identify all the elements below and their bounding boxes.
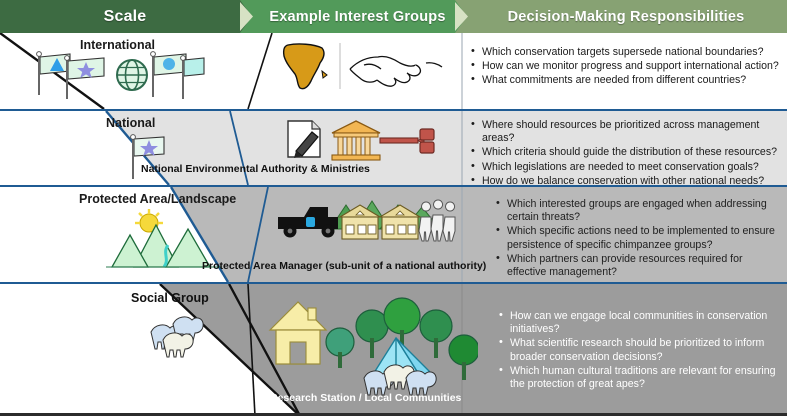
chevron-right-icon <box>240 0 262 33</box>
protected-area-icon-cluster <box>276 195 476 261</box>
mea-icon-cluster <box>278 41 453 93</box>
bullet-item: What commitments are needed from differe… <box>470 74 780 87</box>
bullet-item: Which interested groups are engaged when… <box>495 198 780 224</box>
chevron-right-icon <box>455 0 477 33</box>
government-building-icon <box>332 121 380 160</box>
tree-icon <box>356 310 388 358</box>
bullet-item: What scientific research should be prior… <box>498 337 780 363</box>
house-icon <box>270 302 326 364</box>
header-bar: Scale Example Interest Groups Decision-M… <box>0 0 787 33</box>
bullet-item: How can we engage local communities in c… <box>498 310 780 336</box>
bullet-item: Where should resources be prioritized ac… <box>470 119 780 145</box>
national-flag-icon <box>120 133 180 185</box>
people-group-icon <box>419 200 455 241</box>
bullet-item: Which criteria should guide the distribu… <box>470 146 780 159</box>
header-label-responsibilities: Decision-Making Responsibilities <box>508 9 745 25</box>
header-segment-interest-groups: Example Interest Groups <box>250 0 465 33</box>
caption-social-group: Research Station / Local Communities <box>270 392 461 404</box>
pickup-truck-icon <box>278 207 338 238</box>
bullet-item: Which human cultural traditions are rele… <box>498 365 780 391</box>
header-label-scale: Scale <box>104 8 147 26</box>
tree-icon <box>420 310 452 358</box>
tier-protected-area: Protected Area/Landscape <box>0 187 787 284</box>
tier-national: National <box>0 109 787 187</box>
chimpanzee-group-icon <box>145 312 225 362</box>
bullets-national: Where should resources be prioritized ac… <box>470 119 780 187</box>
scale-label-social-group: Social Group <box>131 291 209 305</box>
header-label-interest-groups: Example Interest Groups <box>269 9 445 25</box>
africa-map-icon <box>284 44 327 89</box>
national-authority-icon-cluster <box>282 117 462 169</box>
bullet-item: Which legislations are needed to meet co… <box>470 161 780 174</box>
bullet-item: How can we monitor progress and support … <box>470 60 780 73</box>
flag-icon <box>181 56 204 99</box>
globe-icon <box>117 60 147 90</box>
tree-icon <box>326 328 354 368</box>
header-segment-responsibilities: Decision-Making Responsibilities <box>465 0 787 33</box>
tier-international: International <box>0 33 787 109</box>
tree-icon <box>449 335 478 380</box>
bullets-social-group: How can we engage local communities in c… <box>498 310 780 392</box>
document-pen-icon <box>288 121 320 158</box>
social-group-icon-cluster <box>268 294 478 402</box>
international-icon-cluster <box>28 47 218 107</box>
bullets-international: Which conservation targets supersede nat… <box>470 46 780 89</box>
scale-label-national: National <box>106 116 155 130</box>
caption-national: National Environmental Authority & Minis… <box>141 163 370 175</box>
caption-protected-area: Protected Area Manager (sub-unit of a na… <box>202 260 486 272</box>
handshake-icon <box>350 56 442 86</box>
gavel-icon <box>380 129 434 153</box>
flag-icon <box>65 56 104 99</box>
bullet-item: How do we balance conservation with othe… <box>470 175 780 187</box>
scale-label-protected-area: Protected Area/Landscape <box>79 192 236 206</box>
bullet-item: Which conservation targets supersede nat… <box>470 46 780 59</box>
bullets-protected-area: Which interested groups are engaged when… <box>495 198 780 280</box>
header-segment-scale: Scale <box>0 0 250 33</box>
infographic-root: Scale Example Interest Groups Decision-M… <box>0 0 787 420</box>
bullet-item: Which specific actions need to be implem… <box>495 225 780 251</box>
bullet-item: Which partners can provide resources req… <box>495 253 780 279</box>
tier-social-group: Social Group <box>0 284 787 416</box>
